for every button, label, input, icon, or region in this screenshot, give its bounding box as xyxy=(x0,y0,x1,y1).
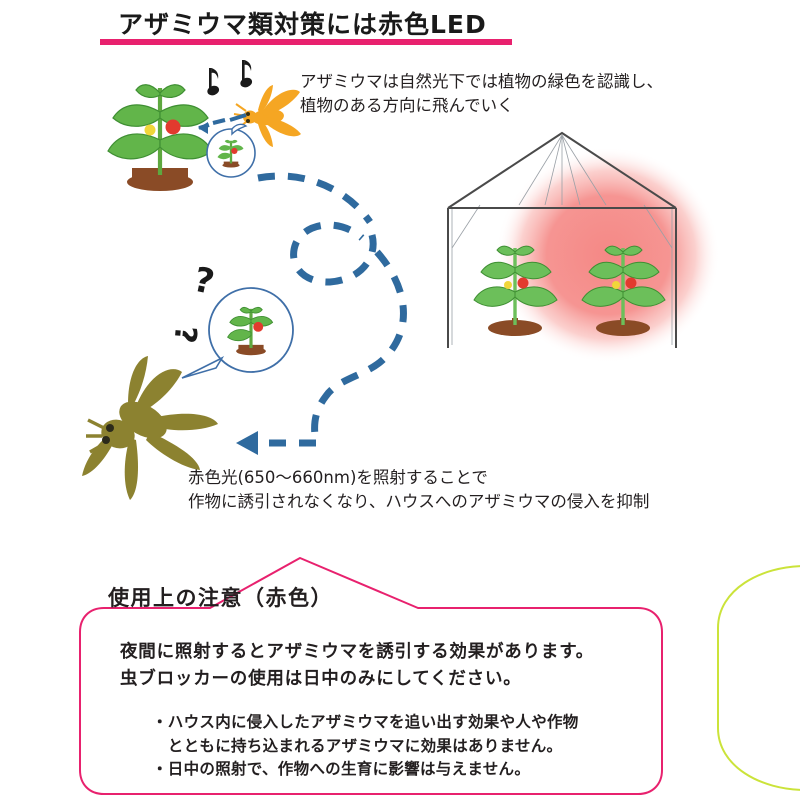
greenhouse-plant-1 xyxy=(474,246,557,336)
callout-bullet-list: ・ハウス内に侵入したアザミウマを追い出す効果や人や作物 とともに持ち込まれるアザ… xyxy=(152,711,579,782)
question-marks-icon: ? ? xyxy=(167,260,218,345)
greenhouse-trusses xyxy=(452,135,672,345)
page-title: アザミウマ類対策には赤色LED xyxy=(118,5,487,41)
infographic-canvas: アザミウマ類対策には赤色LED アザミウマは自然光下では植物の緑色を認識し、 植… xyxy=(0,0,800,800)
red-light-glow xyxy=(496,147,720,363)
callout-body-line2: 虫ブロッカーの使用は日中のみにしてください。 xyxy=(120,669,522,689)
music-notes-icon xyxy=(206,60,253,97)
callout-body-line1: 夜間に照射するとアザミウマを誘引する効果があります。 xyxy=(120,642,594,662)
flight-path-dashed-arrow xyxy=(255,176,403,443)
plant-illustration-top-left xyxy=(108,85,212,191)
thrips-icon-orange xyxy=(234,85,301,147)
thought-bubble-top xyxy=(207,124,255,177)
thought-bubble-bottom xyxy=(182,288,293,378)
greenhouse-frame xyxy=(448,133,676,348)
callout-heading: 使用上の注意（赤色） xyxy=(108,582,333,612)
greenhouse-illustration xyxy=(448,133,720,363)
mid-note-line2: 作物に誘引されなくなり、ハウスへのアザミウマの侵入を抑制 xyxy=(188,492,649,511)
svg-text:?: ? xyxy=(167,324,203,344)
callout-bullet-3: ・日中の照射で、作物への生育に影響は与えません。 xyxy=(152,760,530,778)
callout-bullet-1: ・ハウス内に侵入したアザミウマを追い出す効果や人や作物 xyxy=(152,713,579,731)
top-note: アザミウマは自然光下では植物の緑色を認識し、 植物のある方向に飛んでいく xyxy=(300,70,663,118)
mid-note: 赤色光(650〜660nm)を照射することで 作物に誘引されなくなり、ハウスへの… xyxy=(188,466,649,514)
svg-text:?: ? xyxy=(190,260,218,303)
top-note-line2: 植物のある方向に飛んでいく xyxy=(300,96,514,115)
flight-path-arrowhead xyxy=(236,431,258,455)
mid-note-line1: 赤色光(650〜660nm)を照射することで xyxy=(188,468,488,487)
edge-decoration-shape xyxy=(718,566,800,790)
callout-bullet-2: とともに持ち込まれるアザミウマに効果はありません。 xyxy=(152,737,562,755)
short-arrow-to-plant xyxy=(198,115,246,134)
title-underline xyxy=(100,39,512,45)
callout-body: 夜間に照射するとアザミウマを誘引する効果があります。 虫ブロッカーの使用は日中の… xyxy=(120,639,594,693)
top-note-line1: アザミウマは自然光下では植物の緑色を認識し、 xyxy=(300,72,663,91)
greenhouse-plant-2 xyxy=(582,246,665,336)
